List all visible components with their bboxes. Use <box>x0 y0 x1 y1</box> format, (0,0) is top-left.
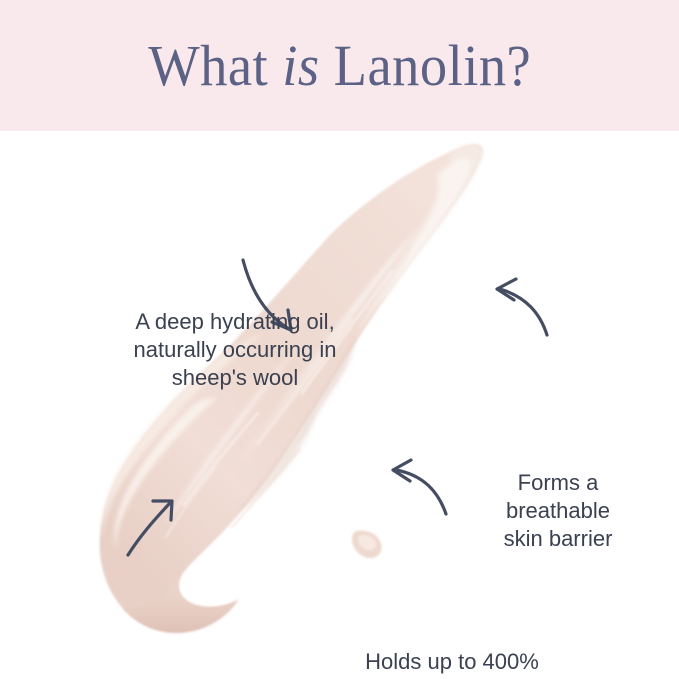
annotation-moisture-capacity: Holds up to 400% of its weight in moistu… <box>332 648 572 679</box>
illustration-stage: A deep hydrating oil, naturally occurrin… <box>0 131 679 679</box>
lanolin-infographic: What is Lanolin? <box>0 0 679 679</box>
arrow-layer <box>0 131 679 679</box>
arrow-to-breathable-barrier <box>497 279 547 335</box>
arrow-to-mimics-skin-oils <box>128 501 172 555</box>
page-title: What is Lanolin? <box>148 37 531 95</box>
annotation-hydrating-oil: A deep hydrating oil, naturally occurrin… <box>100 308 370 392</box>
page-title-prefix: What <box>148 33 282 98</box>
arrow-to-moisture-capacity <box>393 460 446 514</box>
page-title-emphasis: is <box>282 33 319 98</box>
page-title-suffix: Lanolin? <box>319 33 531 98</box>
annotation-breathable-barrier: Forms a breathable skin barrier <box>482 469 634 553</box>
header-band: What is Lanolin? <box>0 0 679 131</box>
